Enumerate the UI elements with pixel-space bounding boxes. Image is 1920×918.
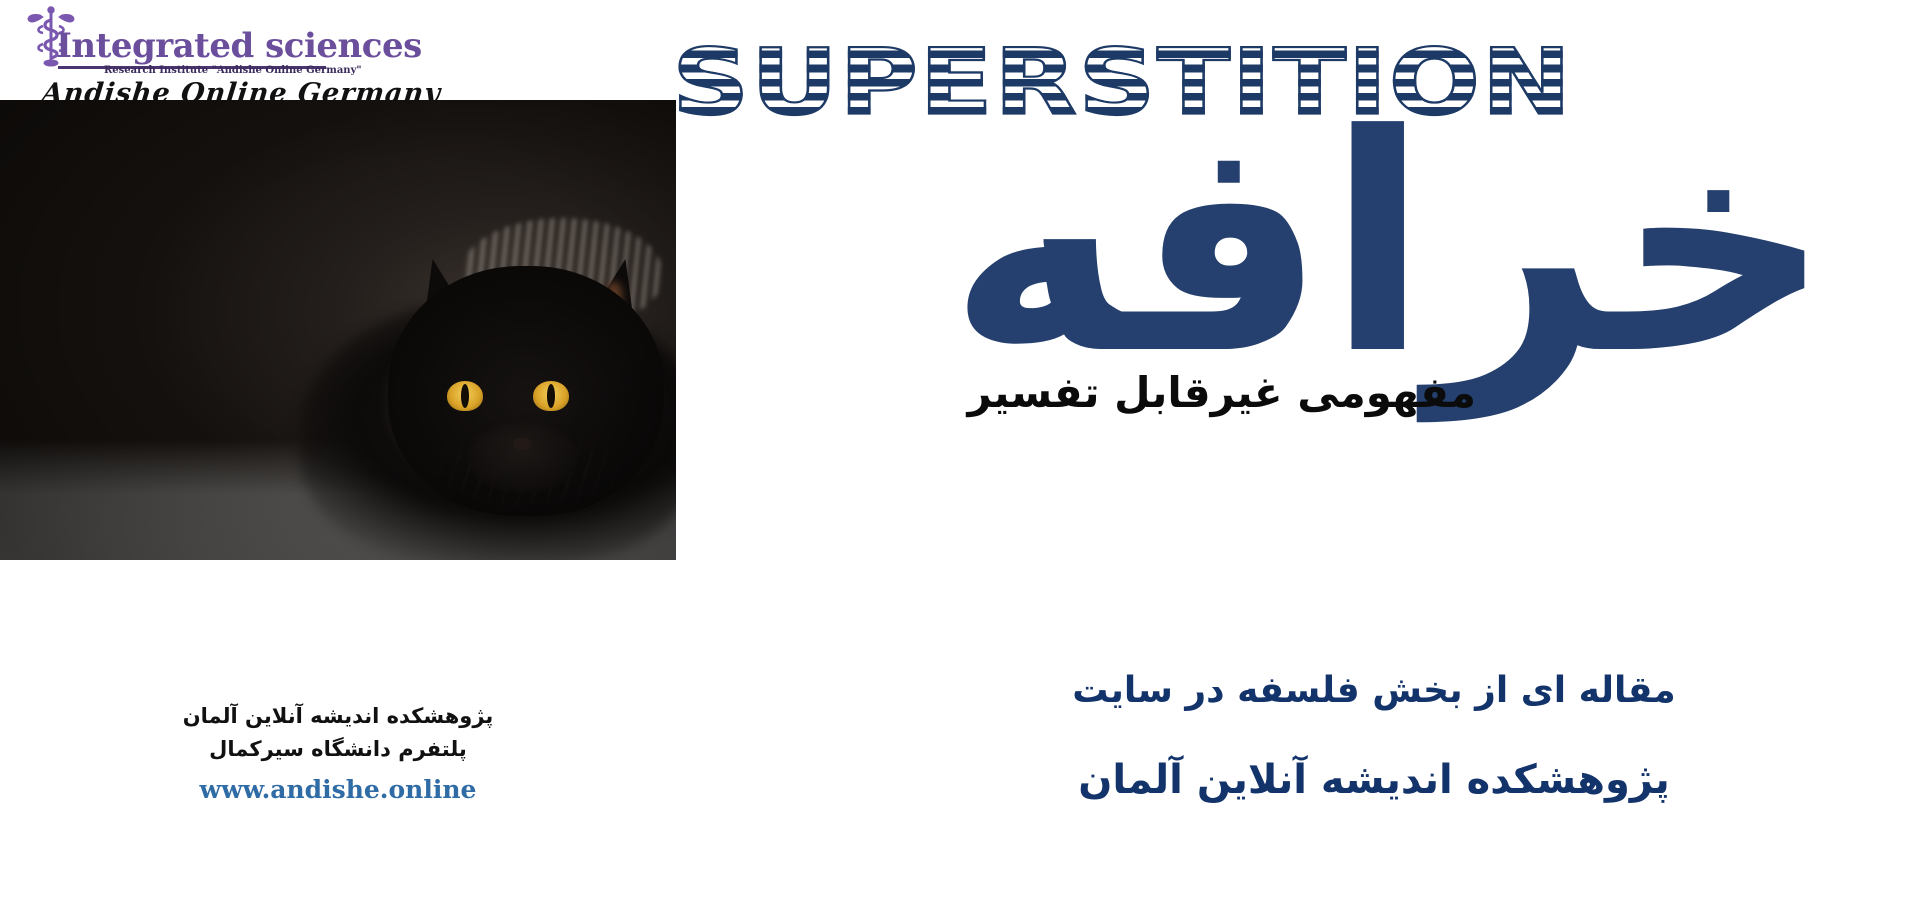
poster-canvas: Integrated sciences Research Institute "… xyxy=(0,0,1920,918)
left-caption-line-2: پلتفرم دانشگاه سیرکمال xyxy=(0,733,676,766)
logo-subtitle: Research Institute "Andishe Online Germa… xyxy=(104,65,362,77)
left-caption-line-1: پژوهشکده اندیشه آنلاین آلمان xyxy=(0,700,676,733)
right-caption-line-1: مقاله ای از بخش فلسفه در سایت xyxy=(884,668,1864,713)
right-caption-block: مقاله ای از بخش فلسفه در سایت پژوهشکده ا… xyxy=(884,668,1864,805)
right-caption-line-2: پژوهشکده اندیشه آنلاین آلمان xyxy=(884,755,1864,805)
logo-title: Integrated sciences xyxy=(56,26,422,66)
hero-subtitle-persian: مفهومی غیرقابل تفسیر xyxy=(967,368,1476,418)
black-cat-photo xyxy=(0,100,676,560)
left-caption-block: پژوهشکده اندیشه آنلاین آلمان پلتفرم دانش… xyxy=(0,700,676,804)
hero-title-persian: خرافه xyxy=(1072,96,1832,396)
website-url-link[interactable]: www.andishe.online xyxy=(0,775,676,804)
photo-vignette xyxy=(0,100,676,560)
brand-logo: Integrated sciences Research Institute "… xyxy=(18,4,338,109)
